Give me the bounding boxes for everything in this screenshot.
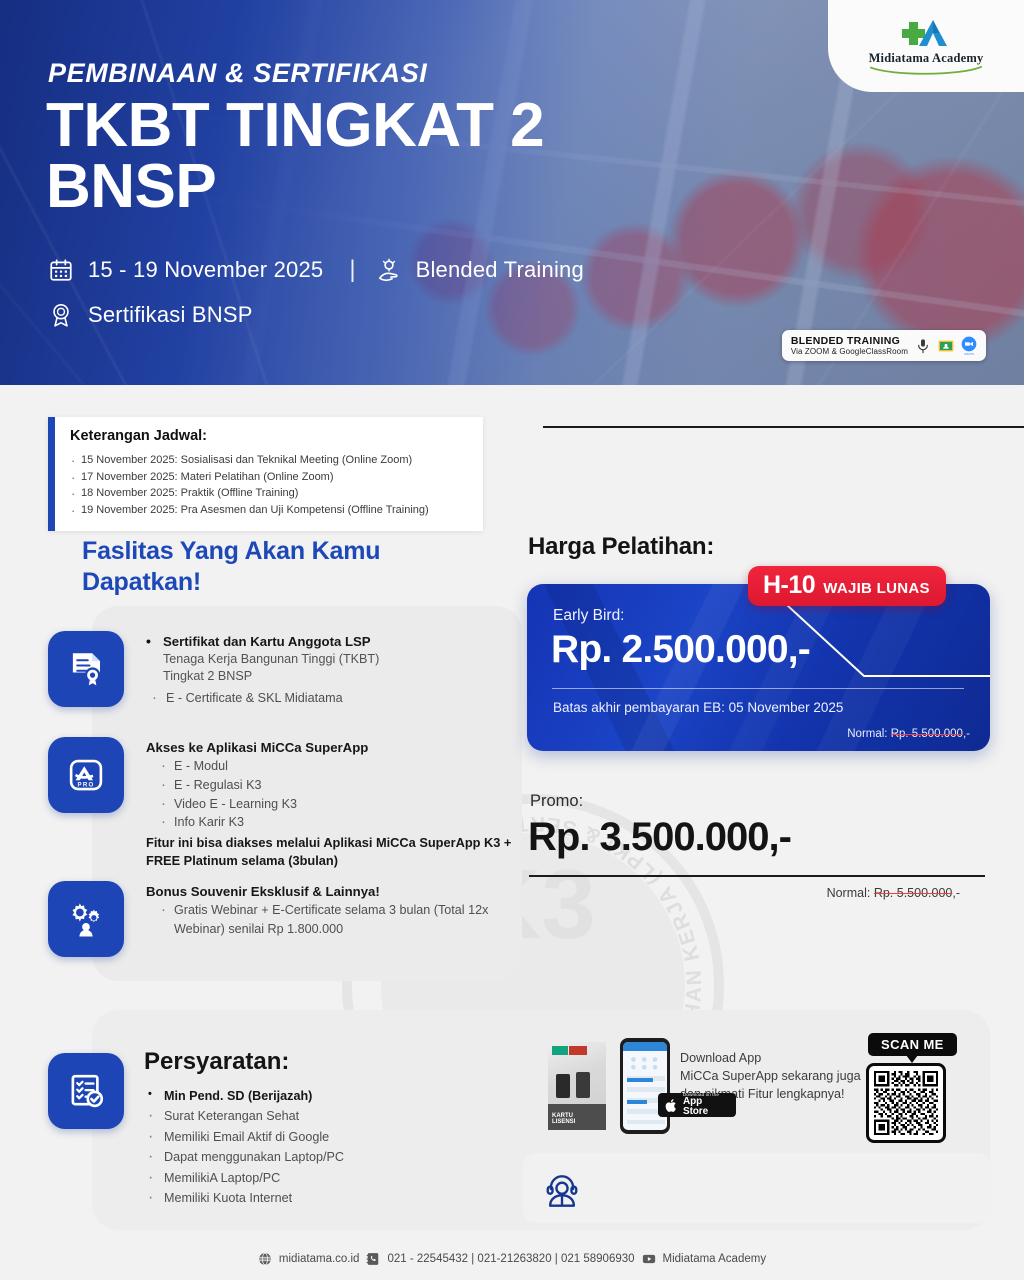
list-item: Min Pend. SD (Berijazah)	[144, 1086, 474, 1106]
zoom-icon	[961, 336, 977, 352]
qr-code[interactable]	[874, 1071, 938, 1135]
normal-prefix: Normal:	[827, 886, 874, 900]
requirements-heading: Persyaratan:	[144, 1048, 289, 1076]
list-item: Dapat menggunakan Laptop/PC	[144, 1147, 474, 1167]
facilities-heading: Faslitas Yang Akan Kamu Dapatkan!	[82, 536, 482, 597]
early-bird-label: Early Bird:	[553, 607, 625, 625]
facility-item-bonus: Bonus Souvenir Eksklusif & Lainnya! Grat…	[48, 881, 518, 957]
license-card-device-2	[576, 1072, 590, 1098]
list-item: Gratis Webinar + E-Certificate selama 3 …	[146, 901, 518, 939]
promo-normal-price: Normal: Rp. 5.500.000,-	[827, 886, 960, 900]
schedule-list: 15 November 2025: Sosialisasi dan Teknik…	[70, 452, 469, 519]
footer-youtube[interactable]: Midiatama Academy	[663, 1253, 767, 1265]
h10-code: H-10	[763, 573, 815, 598]
apple-icon	[665, 1098, 678, 1113]
youtube-icon	[642, 1252, 656, 1266]
license-card-label: KARTU LISENSI	[552, 1113, 575, 1126]
promo-price: Rp. 3.500.000,-	[528, 815, 791, 860]
list-item: Surat Keterangan Sehat	[144, 1106, 474, 1126]
hero-title: TKBT TINGKAT 2 BNSP	[46, 96, 544, 218]
facility-subtitle-2: Tingkat 2 BNSP	[146, 668, 518, 685]
requirements-icon-tile	[48, 1053, 124, 1129]
facility-item-micca-app: PRO Akses ke Aplikasi MiCCa SuperApp E -…	[48, 737, 518, 869]
schedule-heading: Keterangan Jadwal:	[70, 428, 469, 444]
hero-meta-cert-row: Sertifikasi BNSP	[48, 302, 253, 328]
facility-note: Fitur ini bisa diakses melalui Aplikasi …	[146, 834, 518, 868]
hero-mode: Blended Training	[416, 257, 584, 283]
qr-code-frame[interactable]	[866, 1063, 946, 1143]
h10-badge: H-10 WAJIB LUNAS	[748, 566, 946, 606]
gears-user-icon	[65, 898, 107, 940]
pricing-heading: Harga Pelatihan:	[528, 533, 714, 561]
list-item: E - Modul	[146, 757, 518, 776]
license-card-label-1: KARTU	[552, 1113, 573, 1119]
hero-meta-divider: |	[349, 256, 355, 284]
logo-swoosh-icon	[861, 65, 991, 76]
blended-badge-title: BLENDED TRAINING	[791, 335, 908, 347]
micca-pro-app-icon: PRO	[65, 754, 107, 796]
facility-title: Bonus Souvenir Eksklusif & Lainnya!	[146, 883, 518, 901]
customer-support-icon	[543, 1170, 581, 1208]
phone-accent-2	[627, 1100, 647, 1104]
hero-date: 15 - 19 November 2025	[88, 257, 323, 283]
early-bird-normal-price: Normal: Rp. 5.500.000,-	[847, 728, 970, 740]
normal-suffix: ,-	[952, 886, 960, 900]
schedule-box: Keterangan Jadwal: 15 November 2025: Sos…	[48, 417, 483, 531]
footer-phones: 021 - 22545432 | 021-21263820 | 021 5890…	[387, 1253, 634, 1265]
checklist-icon	[65, 1070, 107, 1112]
license-card-chip-red	[569, 1046, 587, 1055]
facility-icon-tile	[48, 631, 124, 707]
list-item: 18 November 2025: Praktik (Offline Train…	[70, 485, 469, 502]
phone-app-bar	[623, 1042, 667, 1051]
requirements-list: Min Pend. SD (Berijazah) Surat Keteranga…	[144, 1086, 474, 1208]
list-item: E - Regulasi K3	[146, 776, 518, 795]
hero-meta-date-row: 15 - 19 November 2025 | Blended Training	[48, 256, 584, 284]
zoom-label: zoom	[961, 352, 977, 356]
google-classroom-icon	[938, 338, 954, 354]
list-item: 19 November 2025: Pra Asesmen dan Uji Ko…	[70, 502, 469, 519]
contact-cta-box[interactable]	[523, 1153, 991, 1223]
license-card-chip-green	[552, 1046, 568, 1055]
globe-icon	[258, 1252, 272, 1266]
early-bird-divider	[552, 688, 964, 689]
hero-banner: Midiatama Academy PEMBINAAN & SERTIFIKAS…	[0, 0, 1024, 385]
blended-training-icon	[376, 257, 402, 283]
footer-website[interactable]: midiatama.co.id	[279, 1253, 360, 1265]
hero-certification: Sertifikasi BNSP	[88, 302, 253, 328]
normal-prefix: Normal:	[847, 728, 890, 740]
license-card-photo: KARTU LISENSI	[548, 1042, 606, 1130]
phone-book-icon	[366, 1252, 380, 1266]
facility-item-certificate: Sertifikat dan Kartu Anggota LSP Tenaga …	[48, 631, 518, 707]
list-item: MemilikiA Laptop/PC	[144, 1168, 474, 1188]
microphone-icon	[915, 338, 931, 354]
normal-struck-price: Rp. 5.500.000	[891, 728, 963, 740]
blended-training-badge: BLENDED TRAINING Via ZOOM & GoogleClassR…	[782, 330, 986, 361]
facility-icon-tile	[48, 881, 124, 957]
early-bird-card: Early Bird: Rp. 2.500.000,- Batas akhir …	[527, 584, 990, 751]
top-divider-rule	[543, 426, 1024, 428]
certificate-icon	[65, 648, 107, 690]
facility-title: Akses ke Aplikasi MiCCa SuperApp	[146, 739, 518, 757]
blended-badge-subtitle: Via ZOOM & GoogleClassRoom	[791, 347, 908, 356]
early-bird-deadline: Batas akhir pembayaran EB: 05 November 2…	[553, 700, 843, 715]
promo-label: Promo:	[530, 792, 583, 811]
brand-logo-text: Midiatama Academy	[869, 51, 984, 66]
footer-contact-bar: midiatama.co.id 021 - 22545432 | 021-212…	[0, 1238, 1024, 1280]
normal-struck-price: Rp. 5.500.000	[874, 886, 953, 900]
facility-subtitle-1: Tenaga Kerja Bangunan Tinggi (TKBT)	[146, 651, 518, 668]
midiatama-academy-logo-icon	[895, 16, 957, 50]
download-line-1: Download App	[680, 1050, 861, 1068]
brand-logo: Midiatama Academy	[828, 0, 1024, 92]
facility-extra: E - Certificate & SKL Midiatama	[146, 689, 518, 707]
app-store-button[interactable]: Download on the App Store	[658, 1093, 736, 1117]
svg-text:PRO: PRO	[78, 781, 95, 788]
app-store-big-label: App Store	[683, 1097, 729, 1117]
h10-text: WAJIB LUNAS	[823, 580, 930, 597]
normal-suffix: ,-	[963, 728, 970, 740]
hero-kicker: PEMBINAAN & SERTIFIKASI	[48, 58, 427, 89]
list-item: Memiliki Kuota Internet	[144, 1188, 474, 1208]
phone-accent-1	[627, 1078, 653, 1082]
calendar-icon	[48, 257, 74, 283]
list-item: 17 November 2025: Materi Pelatihan (Onli…	[70, 469, 469, 486]
download-line-2: MiCCa SuperApp sekarang juga	[680, 1068, 861, 1086]
scan-me-label: SCAN ME	[868, 1033, 957, 1056]
phone-icon-grid	[628, 1056, 664, 1070]
phone-mockup	[620, 1038, 670, 1134]
list-item: 15 November 2025: Sosialisasi dan Teknik…	[70, 452, 469, 469]
list-item: Memiliki Email Aktif di Google	[144, 1127, 474, 1147]
certification-badge-icon	[48, 302, 74, 328]
list-item: Video E - Learning K3	[146, 795, 518, 814]
list-item: Info Karir K3	[146, 813, 518, 832]
license-card-device-1	[556, 1074, 570, 1098]
facility-title: Sertifikat dan Kartu Anggota LSP	[146, 633, 518, 651]
promo-divider-rule	[529, 875, 985, 877]
facility-icon-tile: PRO	[48, 737, 124, 813]
early-bird-price: Rp. 2.500.000,-	[551, 628, 810, 672]
license-card-label-2: LISENSI	[552, 1119, 575, 1125]
